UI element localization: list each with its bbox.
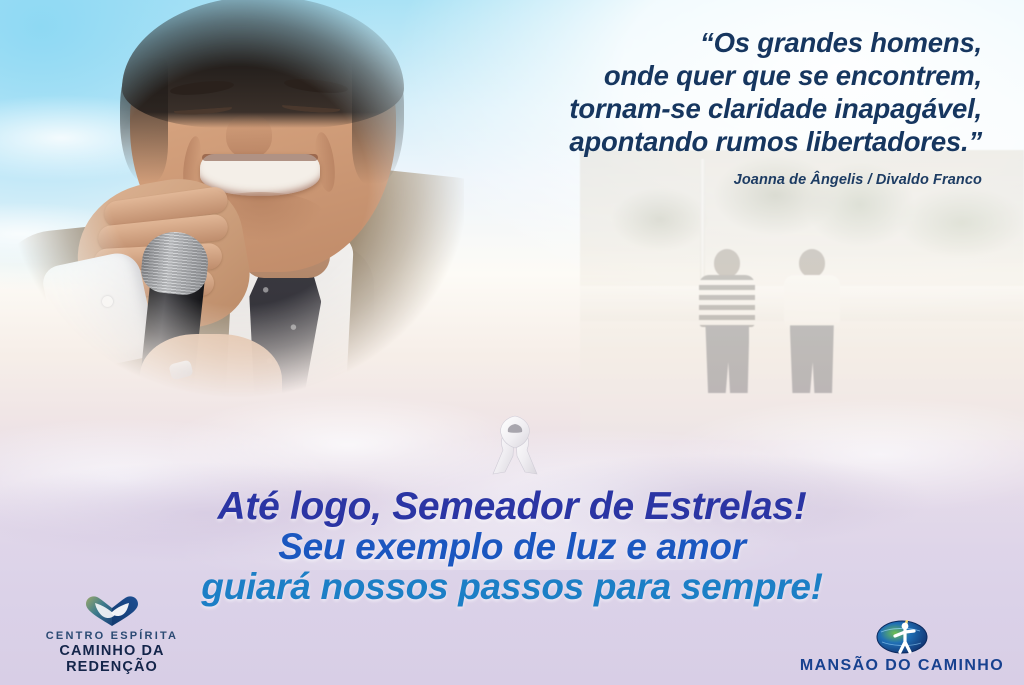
hand-holding-microphone <box>140 334 282 438</box>
memorial-poster: “Os grandes homens, onde quer que se enc… <box>0 0 1024 685</box>
hair-right-side <box>352 54 404 184</box>
headline-line-1: Até logo, Semeador de Estrelas! <box>0 486 1024 527</box>
cuff-button <box>102 296 113 307</box>
hands-heart-icon <box>12 594 212 628</box>
white-mourning-ribbon-icon <box>489 412 541 478</box>
mouth-line <box>202 154 318 161</box>
quote-attribution: Joanna de Ângelis / Divaldo Franco <box>422 172 982 188</box>
quote-line-3: tornam-se claridade inapagável, <box>422 92 982 125</box>
hair-left-side <box>120 58 168 182</box>
quote-line-2: onde quer que se encontrem, <box>422 59 982 92</box>
quote-line-1: “Os grandes homens, <box>422 26 982 59</box>
logo-right-line-1: MANSÃO DO CAMINHO <box>792 657 1012 675</box>
headline-line-2: Seu exemplo de luz e amor <box>0 527 1024 567</box>
globe-figure-icon <box>792 619 1012 653</box>
quote-line-4: apontando rumos libertadores.” <box>422 125 982 158</box>
logo-mansao-do-caminho: MANSÃO DO CAMINHO <box>792 619 1012 675</box>
logo-left-line-2: CAMINHO DA REDENÇÃO <box>12 643 212 675</box>
logo-left-line-1: CENTRO ESPÍRITA <box>12 630 212 642</box>
logo-centro-espirita-caminho-da-redencao: CENTRO ESPÍRITA CAMINHO DA REDENÇÃO <box>12 594 212 675</box>
quote-block: “Os grandes homens, onde quer que se enc… <box>422 26 982 188</box>
man-portrait-with-microphone <box>0 0 464 428</box>
headline-block: Até logo, Semeador de Estrelas! Seu exem… <box>0 486 1024 607</box>
nose <box>226 114 272 158</box>
